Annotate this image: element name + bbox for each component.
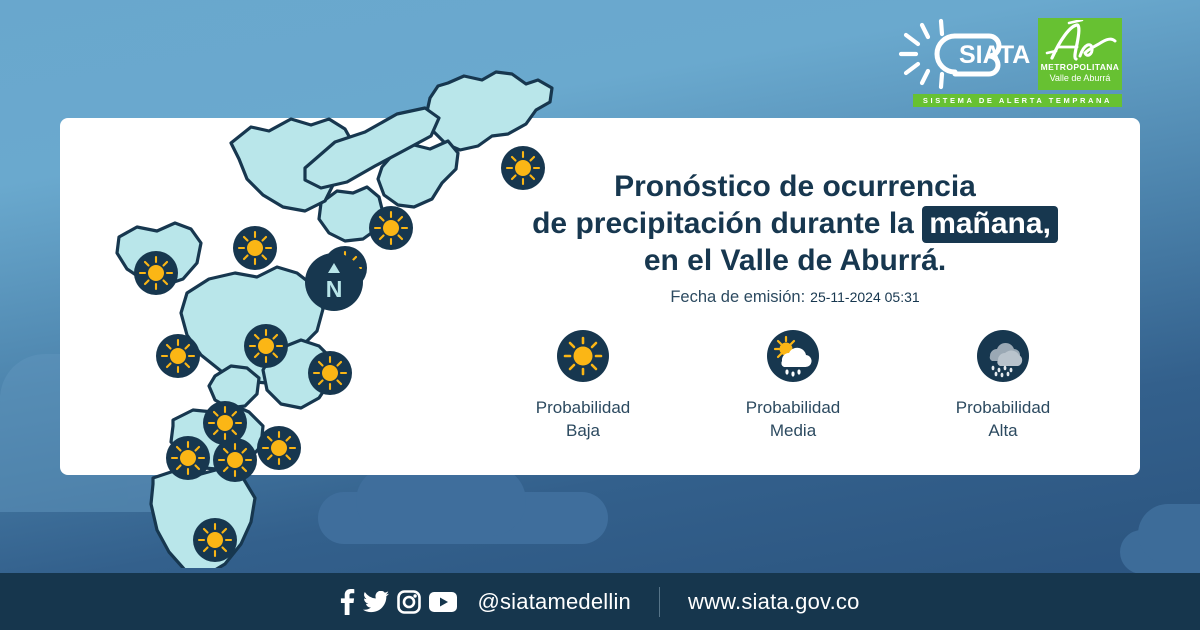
legend-line-2: Alta [898,419,1108,442]
valle-de-aburra-map: N [55,48,555,568]
legend-icon-baja [557,330,609,382]
siata-wordmark: SIATA [959,41,1030,69]
legend-item-alta: Probabilidad Alta [898,330,1108,442]
map-marker-sun-icon [308,351,352,395]
legend-icon-alta [977,330,1029,382]
legend-item-baja: Probabilidad Baja [478,330,688,442]
youtube-icon[interactable] [429,592,457,612]
twitter-icon[interactable] [363,591,389,613]
map-marker-sun-icon [213,438,257,482]
headline-line-2: de precipitación durante la mañana, [470,205,1120,242]
map-region-barbosa [426,72,552,150]
map-marker-sun-icon [156,334,200,378]
compass-label: N [326,276,343,302]
background-cloud-right [1120,530,1200,574]
headline: Pronóstico de ocurrencia de precipitació… [470,168,1120,279]
legend-line-2: Baja [478,419,688,442]
headline-line-1: Pronóstico de ocurrencia [470,168,1120,205]
emission-date-label: Fecha de emisión: [670,288,805,306]
map-marker-sun-icon [193,518,237,562]
emission-date-row: Fecha de emisión:25-11-2024 05:31 [470,288,1120,307]
instagram-icon[interactable] [397,590,421,614]
tagline-bar: SISTEMA DE ALERTA TEMPRANA [913,94,1122,107]
map-marker-sun-icon [369,206,413,250]
map-marker-sun-icon [166,436,210,480]
footer-bar: @siatamedellin www.siata.gov.co [0,573,1200,630]
cloud-heavy-rain-icon [977,330,1029,382]
headline-line-3: en el Valle de Aburrá. [470,242,1120,279]
north-arrow-icon: N [305,253,363,311]
legend-icon-media [767,330,819,382]
legend-text-media: Probabilidad Media [688,396,898,442]
area-subtitle-2: Valle de Aburrá [1038,73,1122,83]
legend-text-alta: Probabilidad Alta [898,396,1108,442]
legend-line-2: Media [688,419,898,442]
tagline-text: SISTEMA DE ALERTA TEMPRANA [923,96,1112,105]
sun-cloud-rain-icon [767,330,819,382]
emission-date-value: 25-11-2024 05:31 [810,289,920,305]
legend-item-media: Probabilidad Media [688,330,898,442]
compass-rose: N [305,253,363,311]
legend-line-1: Probabilidad [478,396,688,419]
legend-line-1: Probabilidad [688,396,898,419]
footer-divider [659,587,660,617]
facebook-icon[interactable] [340,589,355,615]
legend-line-1: Probabilidad [898,396,1108,419]
area-metropolitana-logo: METROPOLITANA Valle de Aburrá [1038,18,1122,90]
probability-legend: Probabilidad Baja [478,330,1108,442]
legend-text-baja: Probabilidad Baja [478,396,688,442]
map-marker-sun-icon [244,324,288,368]
website-url[interactable]: www.siata.gov.co [688,589,860,615]
map-marker-sun-icon [257,426,301,470]
social-handle[interactable]: @siatamedellin [477,589,631,615]
headline-highlight-manana: mañana, [922,206,1058,243]
area-subtitle-1: METROPOLITANA [1038,62,1122,72]
map-marker-sun-icon [134,251,178,295]
sun-icon [557,330,609,382]
area-script-icon [1044,20,1118,64]
map-marker-sun-icon [233,226,277,270]
headline-line-2-text: de precipitación durante la [532,207,922,240]
siata-logo-icon: SIATA [893,18,1033,90]
